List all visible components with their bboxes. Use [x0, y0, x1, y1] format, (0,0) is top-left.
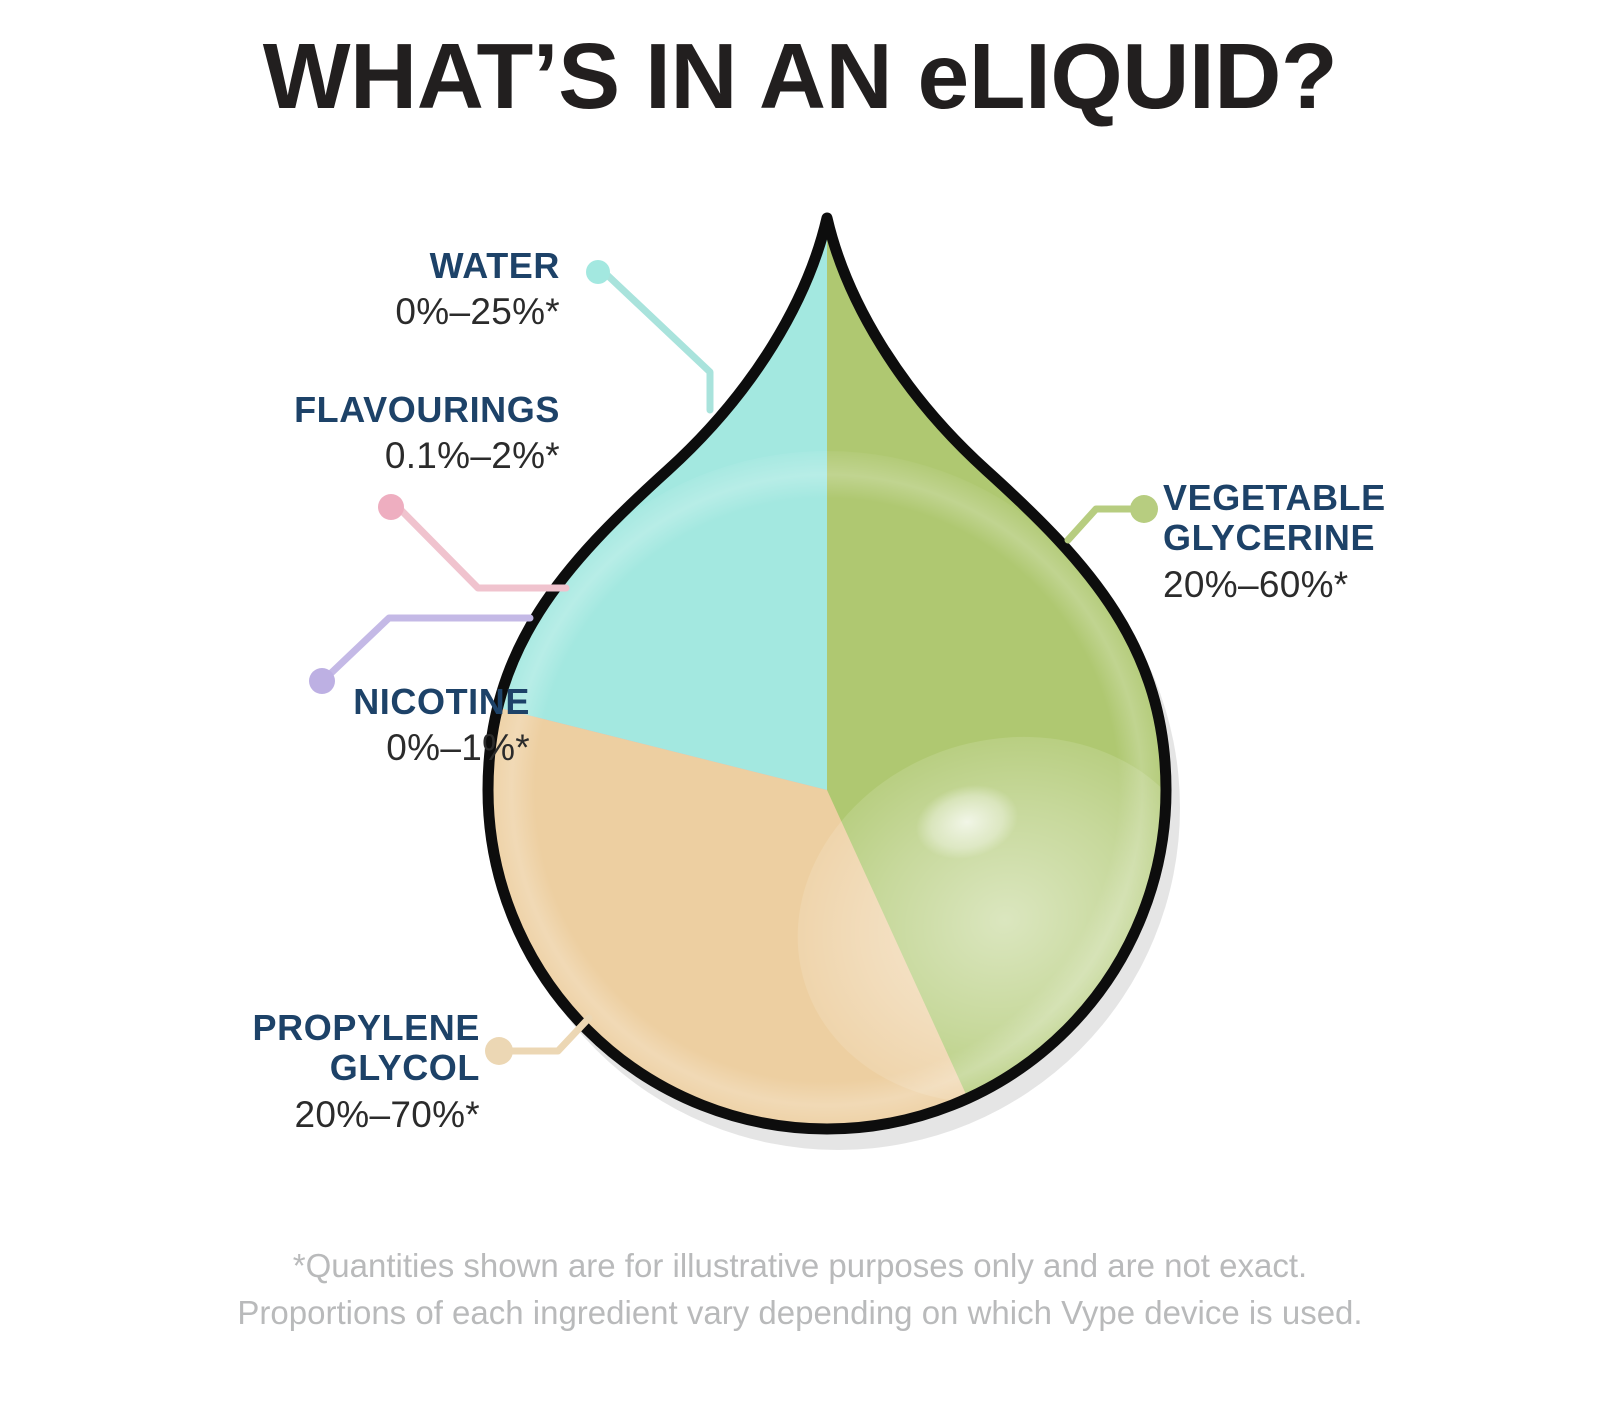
callout-propylene-glycol-name-line1: PROPYLENE	[60, 1008, 480, 1048]
callout-flavourings-value: 0.1%–2%*	[140, 435, 560, 476]
leader-dot-water	[586, 260, 610, 284]
callout-propylene-glycol-name-line2: GLYCOL	[60, 1048, 480, 1088]
callout-water: WATER 0%–25%*	[160, 246, 560, 333]
callout-nicotine-value: 0%–1%*	[90, 727, 530, 768]
callout-water-value: 0%–25%*	[160, 291, 560, 332]
callout-flavourings: FLAVOURINGS 0.1%–2%*	[140, 390, 560, 477]
callout-nicotine: NICOTINE 0%–1%*	[90, 682, 530, 769]
leader-dot-propylene-glycol	[485, 1037, 513, 1065]
infographic-root: WHAT’S IN AN eLIQUID?	[0, 0, 1600, 1405]
leader-line-vegetable-glycerine	[1068, 495, 1158, 540]
callout-vegetable-glycerine-name-line2: GLYCERINE	[1163, 518, 1563, 558]
callout-flavourings-name: FLAVOURINGS	[140, 390, 560, 430]
callout-propylene-glycol: PROPYLENE GLYCOL 20%–70%*	[60, 1008, 480, 1135]
leader-line-flavourings	[378, 494, 566, 588]
leader-dot-vegetable-glycerine	[1130, 495, 1158, 523]
leader-line-water	[586, 260, 710, 410]
footnote: *Quantities shown are for illustrative p…	[0, 1243, 1600, 1337]
footnote-line-2: Proportions of each ingredient vary depe…	[0, 1290, 1600, 1337]
callout-propylene-glycol-value: 20%–70%*	[60, 1094, 480, 1135]
callout-vegetable-glycerine-name-line1: VEGETABLE	[1163, 478, 1563, 518]
callout-nicotine-name: NICOTINE	[90, 682, 530, 722]
callout-vegetable-glycerine-value: 20%–60%*	[1163, 564, 1563, 605]
footnote-line-1: *Quantities shown are for illustrative p…	[0, 1243, 1600, 1290]
leader-line-propylene-glycol	[485, 1018, 589, 1065]
callout-water-name: WATER	[160, 246, 560, 286]
callout-vegetable-glycerine: VEGETABLE GLYCERINE 20%–60%*	[1163, 478, 1563, 605]
leader-dot-flavourings	[378, 494, 404, 520]
